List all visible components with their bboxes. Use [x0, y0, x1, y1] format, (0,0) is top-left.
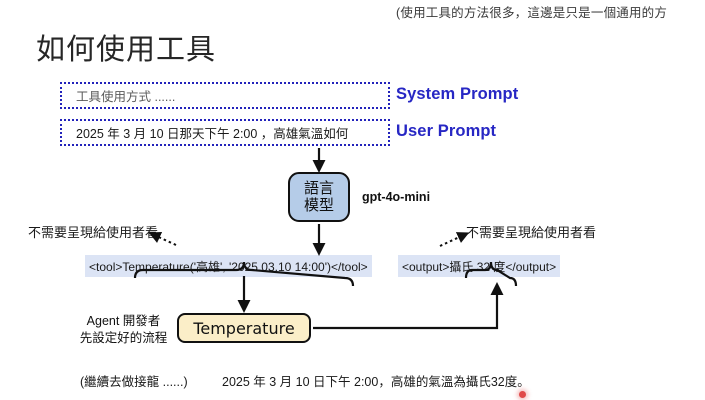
language-model-line1: 語言	[304, 180, 334, 197]
system-prompt-label: System Prompt	[396, 85, 518, 104]
arrow-annotation-right	[440, 234, 466, 246]
slide-canvas: (使用工具的方法很多，這邊是只是一個通用的方 如何使用工具 工具使用方式 ...…	[0, 0, 705, 400]
annotation-hidden-right: 不需要呈現給使用者看	[466, 222, 596, 241]
tool-output-trace: <output>攝氏 32 度</output>	[398, 255, 560, 277]
user-prompt-text: 2025 年 3 月 10 日那天下午 2:00 ，高雄氣溫如何	[76, 123, 348, 142]
user-prompt-box: 2025 年 3 月 10 日那天下午 2:00 ，高雄氣溫如何	[60, 119, 390, 146]
annotation-hidden-left: 不需要呈現給使用者看	[28, 222, 158, 241]
laser-pointer-dot	[519, 391, 526, 398]
agent-developer-note-line2: 先設定好的流程	[66, 330, 181, 347]
user-prompt-label: User Prompt	[396, 122, 496, 141]
agent-developer-note-line1: Agent 開發者	[66, 313, 181, 330]
model-name-label: gpt-4o-mini	[362, 190, 430, 204]
top-note-text: (使用工具的方法很多，這邊是只是一個通用的方	[396, 2, 705, 21]
system-prompt-box: 工具使用方式 ......	[60, 82, 390, 109]
language-model-line2: 模型	[304, 197, 334, 214]
arrow-tool-to-output	[313, 286, 497, 328]
continue-note: (繼續去做接龍 ......)	[80, 371, 188, 390]
system-prompt-text: 工具使用方式 ......	[76, 86, 175, 105]
temperature-tool-node: Temperature	[177, 313, 311, 343]
language-model-node: 語言 模型	[288, 172, 350, 222]
final-answer-text: 2025 年 3 月 10 日下午 2:00，高雄的氣溫為攝氏32度。	[222, 371, 530, 390]
tool-call-trace: <tool>Temperature('高雄', '2025.03.10 14:0…	[85, 255, 372, 277]
page-title: 如何使用工具	[36, 33, 216, 66]
agent-developer-note: Agent 開發者 先設定好的流程	[66, 313, 181, 347]
